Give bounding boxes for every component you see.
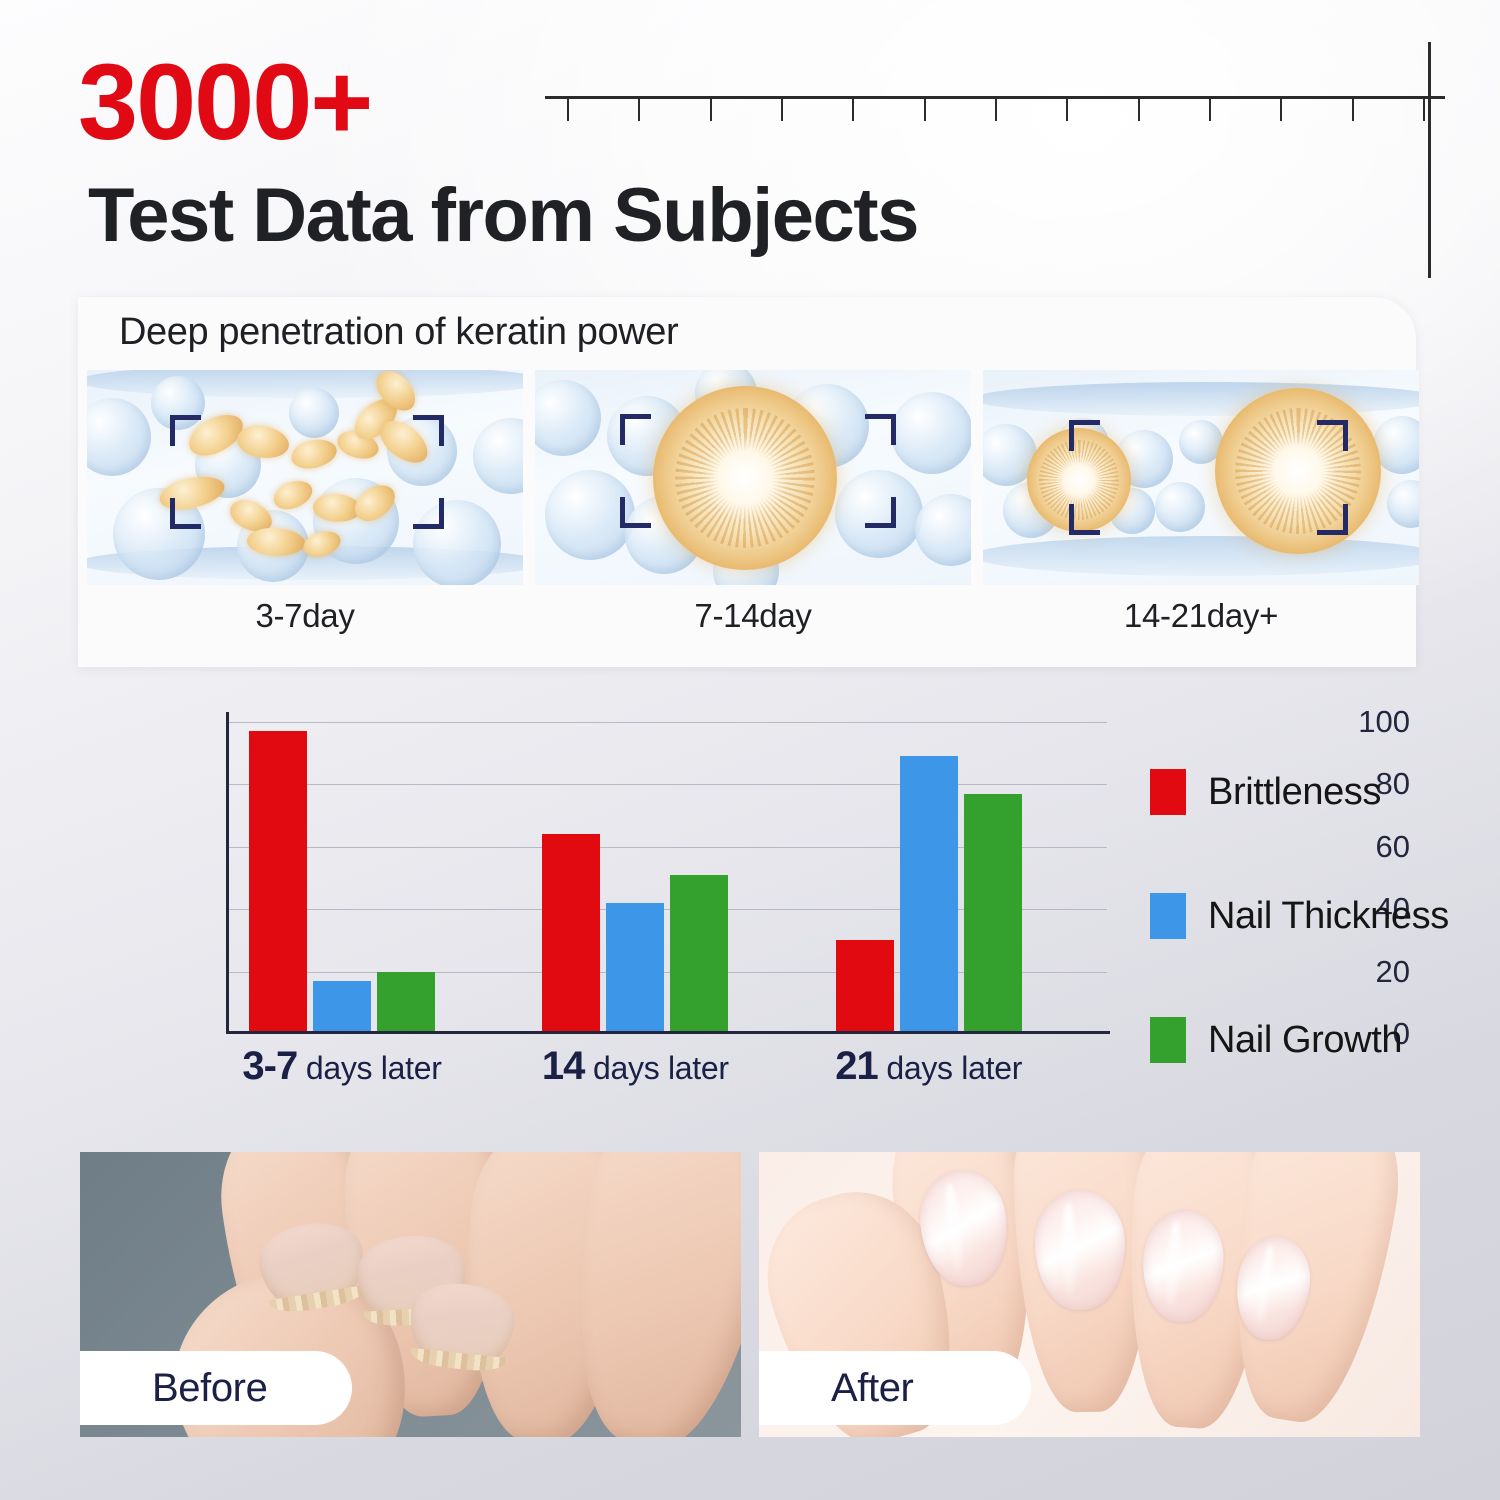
keratin-orb-large <box>1215 388 1381 554</box>
keratin-panel-3: 14-21day+ <box>983 370 1419 657</box>
ruler-tick <box>781 99 783 121</box>
x-axis-label: 3-7 days later <box>197 1044 487 1089</box>
keratin-card: Deep penetration of keratin power <box>78 297 1416 667</box>
gridline <box>227 784 1107 785</box>
bar-brittleness <box>542 834 600 1034</box>
legend-swatch <box>1150 1017 1186 1063</box>
ruler-tick <box>567 99 569 121</box>
y-axis-line <box>226 712 229 1034</box>
keratin-panel-row: 3-7day <box>87 370 1407 657</box>
gridline <box>227 722 1107 723</box>
before-card: Before <box>80 1152 741 1437</box>
ruler-tick <box>1138 99 1140 121</box>
keratin-panel-2-caption: 7-14day <box>535 597 971 635</box>
legend-item: Nail Thickness <box>1150 854 1410 978</box>
bar-nail-growth <box>964 794 1022 1034</box>
legend-item: Nail Growth <box>1150 978 1410 1102</box>
x-axis-label-number: 14 <box>542 1044 585 1088</box>
keratin-image-7-14day <box>535 370 971 585</box>
focus-bracket-bottom-left <box>620 497 651 528</box>
x-axis-label-number: 3-7 <box>242 1044 297 1088</box>
focus-bracket-top-left <box>620 414 651 445</box>
headline-stat: 3000+ <box>78 48 371 156</box>
after-label: After <box>759 1351 1031 1425</box>
x-axis-label: 14 days later <box>490 1044 780 1089</box>
focus-bracket-bottom-right <box>413 498 444 529</box>
focus-bracket-top-left <box>1069 420 1100 451</box>
ruler-vertical-line <box>1428 42 1431 278</box>
ruler-tick <box>924 99 926 121</box>
focus-bracket-bottom-left <box>1069 504 1100 535</box>
keratin-image-3-7day <box>87 370 523 585</box>
bar-brittleness <box>836 940 894 1034</box>
bar-nail-growth <box>377 972 435 1034</box>
keratin-card-title: Deep penetration of keratin power <box>119 311 678 354</box>
infographic-poster: 3000+ Test Data from Subjects Deep penet… <box>0 0 1500 1500</box>
focus-bracket-bottom-right <box>1317 504 1348 535</box>
ruler-tick <box>710 99 712 121</box>
ruler-decoration <box>545 96 1445 122</box>
focus-bracket-top-right <box>865 414 896 445</box>
keratin-image-14-21day <box>983 370 1419 585</box>
legend-item: Brittleness <box>1150 730 1410 854</box>
ruler-tick <box>1209 99 1211 121</box>
focus-bracket-top-right <box>1317 420 1348 451</box>
bar-nail-thickness <box>606 903 664 1034</box>
x-axis-labels: 3-7 days later14 days later21 days later <box>227 1044 1117 1094</box>
bar-nail-thickness <box>900 756 958 1034</box>
legend-swatch <box>1150 769 1186 815</box>
keratin-panel-3-caption: 14-21day+ <box>983 597 1419 635</box>
keratin-panel-2: 7-14day <box>535 370 971 657</box>
bar-nail-thickness <box>313 981 371 1034</box>
before-after-row: Before After <box>80 1152 1420 1437</box>
bar-chart: 020406080100 3-7 days later14 days later… <box>150 712 1410 1112</box>
ruler-tick <box>1066 99 1068 121</box>
ruler-tick <box>1280 99 1282 121</box>
after-card: After <box>759 1152 1420 1437</box>
headline-subtitle: Test Data from Subjects <box>88 178 918 254</box>
ruler-tick <box>638 99 640 121</box>
keratin-orb-large <box>653 386 837 570</box>
legend-label: Nail Thickness <box>1208 895 1449 938</box>
focus-bracket-top-right <box>413 415 444 446</box>
focus-bracket-bottom-right <box>865 497 896 528</box>
plot-area <box>227 722 1107 1034</box>
x-axis-label-text: days later <box>297 1050 441 1086</box>
before-label: Before <box>80 1351 352 1425</box>
x-axis-label-number: 21 <box>835 1044 878 1088</box>
x-axis-label-text: days later <box>584 1050 728 1086</box>
chart-legend: BrittlenessNail ThicknessNail Growth <box>1150 730 1410 1102</box>
ruler-tick <box>1352 99 1354 121</box>
legend-swatch <box>1150 893 1186 939</box>
legend-label: Brittleness <box>1208 771 1381 814</box>
keratin-panel-1: 3-7day <box>87 370 523 657</box>
ruler-tick <box>852 99 854 121</box>
x-axis-label: 21 days later <box>784 1044 1074 1089</box>
bar-brittleness <box>249 731 307 1034</box>
ruler-tick <box>995 99 997 121</box>
bar-nail-growth <box>670 875 728 1034</box>
keratin-panel-1-caption: 3-7day <box>87 597 523 635</box>
legend-label: Nail Growth <box>1208 1019 1402 1062</box>
focus-bracket-top-left <box>170 415 201 446</box>
focus-bracket-bottom-left <box>170 498 201 529</box>
x-axis-label-text: days later <box>878 1050 1022 1086</box>
x-axis-line <box>226 1031 1110 1034</box>
ruler-tick <box>1423 99 1425 121</box>
